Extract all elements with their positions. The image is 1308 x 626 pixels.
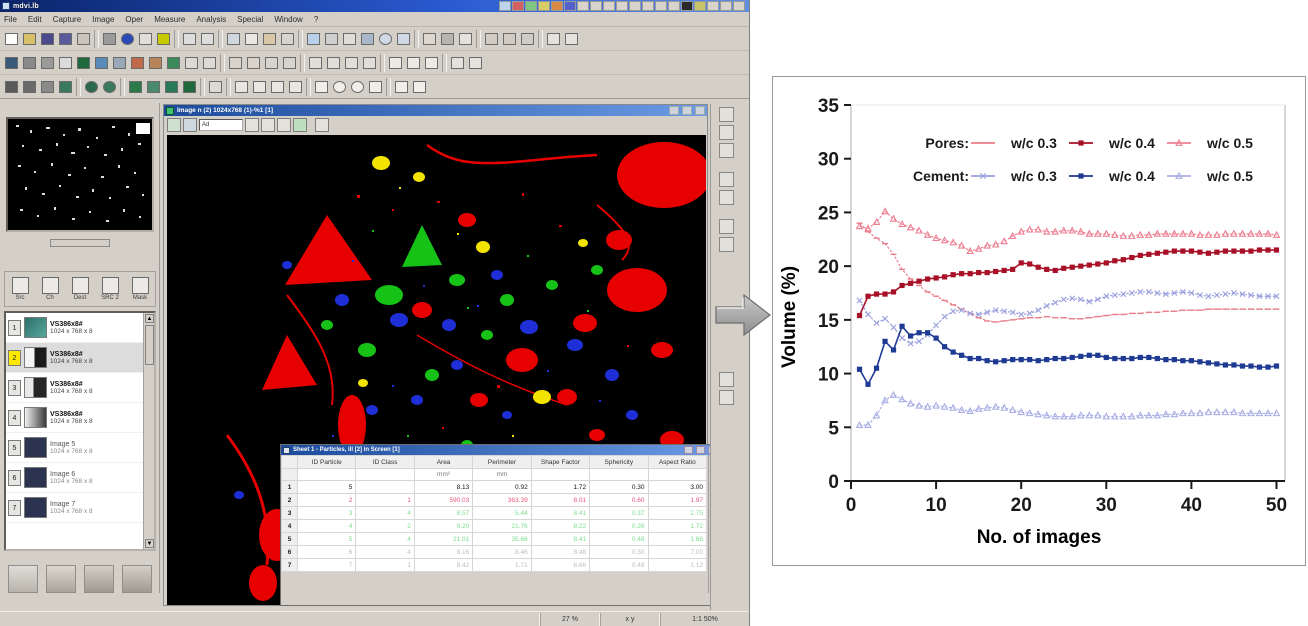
- toolbar-separator-1e: [414, 30, 419, 48]
- row-number: 1: [282, 481, 298, 494]
- status-info: 1:1 50%: [660, 613, 750, 626]
- cell-perimeter[interactable]: 5.44: [473, 507, 531, 520]
- strip-tool-3-icon[interactable]: [719, 143, 734, 158]
- cell-aspect-ratio[interactable]: 1.97: [648, 494, 706, 507]
- gray-image-icon[interactable]: [39, 53, 56, 72]
- title-icon-3[interactable]: [525, 1, 537, 11]
- circle-shape-icon[interactable]: [331, 77, 348, 96]
- cell-area[interactable]: 8.42: [414, 559, 472, 572]
- row-number: 5: [282, 533, 298, 546]
- close-button[interactable]: [733, 1, 745, 11]
- toolbar-row-2[interactable]: [0, 51, 749, 75]
- x-tick-label-40: 40: [1181, 495, 1202, 516]
- toolbar-separator-3c: [200, 78, 205, 96]
- list-item-number: 5: [8, 440, 21, 456]
- legend-cement-wc04-label: w/c 0.4: [1108, 168, 1155, 184]
- rect-shape-icon[interactable]: [313, 77, 330, 96]
- eyedropper-icon[interactable]: [39, 77, 56, 96]
- image-grid-icon[interactable]: [183, 118, 197, 132]
- row-number: 7: [282, 559, 298, 572]
- image-zoom-select[interactable]: Ad: [199, 119, 243, 131]
- title-icon-12[interactable]: [642, 1, 654, 11]
- list-item-name: VS386x8#: [50, 411, 152, 418]
- cell-perimeter[interactable]: 21.76: [473, 520, 531, 533]
- title-icon-16[interactable]: [694, 1, 706, 11]
- list-item-dims: 1024 x 768 x 8: [50, 448, 152, 455]
- title-icon-9[interactable]: [603, 1, 615, 11]
- sheet-window-maximize-button[interactable]: [696, 446, 705, 454]
- list-item[interactable]: 7 Image 7 1024 x 768 x 8: [6, 493, 154, 523]
- filter4-icon[interactable]: [281, 53, 298, 72]
- cell-perimeter[interactable]: 0.92: [473, 481, 531, 494]
- threshold-icon[interactable]: [111, 53, 128, 72]
- duplicate-icon[interactable]: [84, 565, 114, 593]
- cell-sphericity[interactable]: 0.37: [590, 507, 648, 520]
- line-style-icon[interactable]: [393, 77, 410, 96]
- x-tick-label-10: 10: [926, 495, 947, 516]
- menu-item-analysis[interactable]: Analysis: [196, 15, 226, 24]
- arrow-right-icon[interactable]: [563, 29, 580, 48]
- cell-shape-factor[interactable]: 8.01: [531, 494, 589, 507]
- measure-line-icon[interactable]: [341, 29, 358, 48]
- table-row[interactable]: 5 5 4 21.01 35.66 8.41 0.48 1.68: [282, 533, 707, 546]
- erode-icon[interactable]: [147, 53, 164, 72]
- calibrate-icon[interactable]: [305, 29, 322, 48]
- table-header-row: ID Particle ID Class Area Perimeter Shap…: [282, 456, 707, 469]
- list-item-dims: 1024 x 768 x 8: [50, 328, 152, 335]
- cell-id-particle[interactable]: 5: [298, 533, 356, 546]
- macro-icon[interactable]: [519, 29, 536, 48]
- x-tick-label-20: 20: [1011, 495, 1032, 516]
- table-row[interactable]: 4 4 2 9.20 21.76 8.22 0.26 1.72: [282, 520, 707, 533]
- cell-perimeter[interactable]: 363.39: [473, 494, 531, 507]
- list-item-name: Image 6: [50, 471, 152, 478]
- cell-aspect-ratio[interactable]: 3.00: [648, 481, 706, 494]
- image-preview-thumbnail[interactable]: [6, 117, 154, 232]
- unit-area: mm²: [414, 469, 472, 481]
- print-icon[interactable]: [101, 29, 118, 48]
- cell-shape-factor[interactable]: 8.22: [531, 520, 589, 533]
- cell-id-particle[interactable]: 7: [298, 559, 356, 572]
- row-number: 4: [282, 520, 298, 533]
- table-row[interactable]: 6 6 4 8.16 8.46 8.48 0.30 7.00: [282, 546, 707, 559]
- cell-id-class[interactable]: 4: [356, 533, 414, 546]
- unit-perimeter: mm: [473, 469, 531, 481]
- column-header-aspect-ratio[interactable]: Aspect Ratio: [648, 456, 706, 469]
- legend-pores-wc05-label: w/c 0.5: [1206, 135, 1253, 151]
- tool-dest[interactable]: Dest: [68, 277, 92, 301]
- bottom-tool-strip[interactable]: [4, 555, 156, 603]
- cell-sphericity[interactable]: 0.60: [590, 494, 648, 507]
- cell-sphericity[interactable]: 0.26: [590, 520, 648, 533]
- unit-id-particle: [298, 469, 356, 481]
- next-image-icon[interactable]: [467, 53, 484, 72]
- grid-icon[interactable]: [323, 29, 340, 48]
- strip-tool-9-icon[interactable]: [719, 390, 734, 405]
- tool-ch[interactable]: Ch: [38, 277, 62, 301]
- contrast-icon[interactable]: [439, 29, 456, 48]
- tool-src2-label: SRC 2: [98, 295, 122, 301]
- cell-id-particle[interactable]: 5: [298, 481, 356, 494]
- strip-tool-2-icon[interactable]: [719, 125, 734, 140]
- image-overlay-icon[interactable]: [315, 118, 329, 132]
- cell-perimeter[interactable]: 35.66: [473, 533, 531, 546]
- count-icon[interactable]: [325, 53, 342, 72]
- column-header-id-particle[interactable]: ID Particle: [298, 456, 356, 469]
- tool-src2[interactable]: SRC 2: [98, 277, 122, 301]
- new-file-icon[interactable]: [3, 29, 20, 48]
- image-zoom-actual-icon[interactable]: [293, 118, 307, 132]
- cut-icon[interactable]: [225, 29, 242, 48]
- table-row[interactable]: 2 2 1 590.03 363.39 8.01 0.60 1.97: [282, 494, 707, 507]
- title-icon-5[interactable]: [551, 1, 563, 11]
- list-item-text: VS386x8# 1024 x 768 x 8: [50, 381, 152, 395]
- cell-id-particle[interactable]: 3: [298, 507, 356, 520]
- preview-zoom-slider[interactable]: [50, 239, 110, 247]
- left-dock-panel: Src Ch Dest SRC 2 Mask 1: [0, 103, 160, 593]
- cell-aspect-ratio[interactable]: 1.68: [648, 533, 706, 546]
- menu-item-measure[interactable]: Measure: [154, 15, 185, 24]
- eraser-tool-icon[interactable]: [163, 77, 180, 96]
- list-item-thumbnail: [24, 497, 47, 518]
- cell-aspect-ratio[interactable]: 7.00: [648, 546, 706, 559]
- image-window-icon: [166, 107, 174, 115]
- cell-id-particle[interactable]: 2: [298, 494, 356, 507]
- status-message: [0, 613, 540, 626]
- image-window-maximize-button[interactable]: [682, 106, 692, 115]
- filter1-icon[interactable]: [227, 53, 244, 72]
- title-icon-13[interactable]: [655, 1, 667, 11]
- tool-mask[interactable]: Mask: [128, 277, 152, 301]
- y-tick-label-30: 30: [818, 150, 839, 171]
- volume-vs-images-chart-panel: 0510152025303501020304050 No. of images …: [772, 76, 1306, 566]
- mask-icon: [132, 277, 149, 294]
- volume-line-chart: 0510152025303501020304050 No. of images …: [773, 77, 1305, 565]
- list-item-name: Image 5: [50, 441, 152, 448]
- strip-tool-1-icon[interactable]: [719, 107, 734, 122]
- classify-icon[interactable]: [343, 53, 360, 72]
- cell-aspect-ratio[interactable]: 2.75: [648, 507, 706, 520]
- y-tick-label-0: 0: [828, 472, 839, 493]
- table-icon[interactable]: [387, 53, 404, 72]
- cell-area[interactable]: 8.57: [414, 507, 472, 520]
- image-fit-icon[interactable]: [167, 118, 181, 132]
- cell-area[interactable]: 590.03: [414, 494, 472, 507]
- frame-icon[interactable]: [21, 53, 38, 72]
- tool-ch-label: Ch: [38, 295, 62, 301]
- menu-item-edit[interactable]: Edit: [28, 15, 42, 24]
- right-tool-strip[interactable]: [710, 104, 742, 610]
- redo-icon[interactable]: [199, 29, 216, 48]
- strip-tool-7-icon[interactable]: [719, 237, 734, 252]
- magnifier-icon[interactable]: [101, 77, 118, 96]
- unit-aspect-ratio: [648, 469, 706, 481]
- title-icon-15[interactable]: [681, 1, 693, 11]
- list-item-name: VS386x8#: [50, 381, 152, 388]
- report-icon[interactable]: [423, 53, 440, 72]
- open-morph-icon[interactable]: [183, 53, 200, 72]
- trash-icon[interactable]: [8, 565, 38, 593]
- menu-item-image[interactable]: Image: [92, 15, 114, 24]
- label-icon[interactable]: [307, 53, 324, 72]
- save-as-icon[interactable]: [57, 29, 74, 48]
- column-header-perimeter[interactable]: Perimeter: [473, 456, 531, 469]
- cell-id-class[interactable]: 1: [356, 494, 414, 507]
- list-item[interactable]: 6 Image 6 1024 x 768 x 8: [6, 463, 154, 493]
- strip-tool-5-icon[interactable]: [719, 190, 734, 205]
- strip-tool-4-icon[interactable]: [719, 172, 734, 187]
- image-zoom-out-icon[interactable]: [261, 118, 275, 132]
- image-window-minimize-button[interactable]: [669, 106, 679, 115]
- export-icon[interactable]: [75, 29, 92, 48]
- list-item-number: 7: [8, 500, 21, 516]
- copy-icon[interactable]: [243, 29, 260, 48]
- cell-id-particle[interactable]: 6: [298, 546, 356, 559]
- menu-item-special[interactable]: Special: [237, 15, 263, 24]
- scrollbar-thumb[interactable]: [145, 325, 154, 365]
- title-icon-4[interactable]: [538, 1, 550, 11]
- cell-area[interactable]: 21.01: [414, 533, 472, 546]
- image-view-icon[interactable]: [155, 29, 172, 48]
- channel-icon: [42, 277, 59, 294]
- script-run-icon[interactable]: [483, 29, 500, 48]
- lut-icon[interactable]: [457, 29, 474, 48]
- image-zoom-fit-icon[interactable]: [277, 118, 291, 132]
- column-header-shape-factor[interactable]: Shape Factor: [531, 456, 589, 469]
- title-icon-8[interactable]: [590, 1, 602, 11]
- cell-shape-factor[interactable]: 8.41: [531, 533, 589, 546]
- toolbar-separator-3a: [76, 78, 81, 96]
- properties-icon[interactable]: [122, 565, 152, 593]
- list-item-name: VS386x8#: [50, 351, 152, 358]
- image-zoom-in-icon[interactable]: [245, 118, 259, 132]
- cell-perimeter[interactable]: 1.71: [473, 559, 531, 572]
- menu-bar[interactable]: File Edit Capture Image Oper Measure Ana…: [0, 12, 749, 27]
- legend-cement-wc05-label: w/c 0.5: [1206, 168, 1253, 184]
- cell-id-class[interactable]: [356, 481, 414, 494]
- list-item-dims: 1024 x 768 x 8: [50, 418, 152, 425]
- toolbar-separator-2b: [300, 54, 305, 72]
- paste-icon[interactable]: [261, 29, 278, 48]
- cell-id-class[interactable]: 1: [356, 559, 414, 572]
- cell-area[interactable]: 9.20: [414, 520, 472, 533]
- pan-tool-icon[interactable]: [21, 77, 38, 96]
- stats-icon[interactable]: [361, 53, 378, 72]
- draw-arrow-icon[interactable]: [287, 77, 304, 96]
- cell-sphericity[interactable]: 0.48: [590, 559, 648, 572]
- list-item-thumbnail: [24, 407, 47, 428]
- cell-shape-factor[interactable]: 8.66: [531, 559, 589, 572]
- ellipse-shape-icon[interactable]: [349, 77, 366, 96]
- toolbar-separator-3d: [226, 78, 231, 96]
- menu-item-oper[interactable]: Oper: [125, 15, 143, 24]
- column-header-id-class[interactable]: ID Class: [356, 456, 414, 469]
- column-header-area[interactable]: Area: [414, 456, 472, 469]
- cell-aspect-ratio[interactable]: 1.72: [648, 520, 706, 533]
- filter3-icon[interactable]: [263, 53, 280, 72]
- title-icon-14[interactable]: [668, 1, 680, 11]
- check-tool-icon[interactable]: [181, 77, 198, 96]
- filter2-icon[interactable]: [245, 53, 262, 72]
- destination-icon: [72, 277, 89, 294]
- strip-tool-8-icon[interactable]: [719, 372, 734, 387]
- list-item[interactable]: 4 VS386x8# 1024 x 768 x 8: [6, 403, 154, 433]
- title-icon-2[interactable]: [512, 1, 524, 11]
- toolbar-separator-1f: [476, 30, 481, 48]
- cell-perimeter[interactable]: 8.46: [473, 546, 531, 559]
- help-pointer-icon[interactable]: [137, 29, 154, 48]
- roi-rect-icon[interactable]: [207, 77, 224, 96]
- morphology-icon[interactable]: [129, 53, 146, 72]
- row-number: 2: [282, 494, 298, 507]
- list-item-text: Image 5 1024 x 768 x 8: [50, 441, 152, 455]
- text-tool-icon[interactable]: [57, 77, 74, 96]
- delete-icon[interactable]: [279, 29, 296, 48]
- list-item-text: Image 7 1024 x 768 x 8: [50, 501, 152, 515]
- color-classify-icon[interactable]: [75, 53, 92, 72]
- legend-pores-wc03-label: w/c 0.3: [1010, 135, 1057, 151]
- fill-tool-icon[interactable]: [127, 77, 144, 96]
- binary-image-icon[interactable]: [57, 53, 74, 72]
- channel-tool-strip[interactable]: Src Ch Dest SRC 2 Mask: [4, 271, 156, 307]
- cell-area[interactable]: 8.13: [414, 481, 472, 494]
- image-file-list[interactable]: 1 VS386x8# 1024 x 768 x 8 2 VS386x8# 102…: [4, 311, 156, 551]
- script-stop-icon[interactable]: [501, 29, 518, 48]
- segment-icon[interactable]: [93, 53, 110, 72]
- info-icon[interactable]: [119, 29, 136, 48]
- list-item[interactable]: 2 VS386x8# 1024 x 768 x 8: [6, 343, 154, 373]
- image-window-toolbar[interactable]: Ad: [164, 116, 707, 133]
- list-item[interactable]: 5 Image 5 1024 x 768 x 8: [6, 433, 154, 463]
- sheet-window-title: Sheet 1 - Particles, ill [2] in Screen […: [293, 447, 400, 453]
- title-icon-7[interactable]: [577, 1, 589, 11]
- list-item-dims: 1024 x 768 x 8: [50, 508, 152, 515]
- prev-image-icon[interactable]: [449, 53, 466, 72]
- source-icon: [12, 277, 29, 294]
- acquire-icon[interactable]: [3, 53, 20, 72]
- x-tick-label-50: 50: [1266, 495, 1287, 516]
- scroll-up-arrow-icon[interactable]: ▲: [145, 314, 154, 323]
- y-tick-label-35: 35: [818, 96, 840, 117]
- image-analysis-application-window: mdvi.lb File Edit Capture Ima: [0, 0, 750, 626]
- list-item-dims: 1024 x 768 x 8: [50, 388, 152, 395]
- load-image-icon[interactable]: [46, 565, 76, 593]
- particle-data-sheet-window[interactable]: Sheet 1 - Particles, ill [2] in Screen […: [280, 444, 720, 606]
- legend-group-pores-label: Pores:: [925, 135, 969, 151]
- zoom-out-icon[interactable]: [395, 29, 412, 48]
- title-icon-1[interactable]: [499, 1, 511, 11]
- save-icon[interactable]: [39, 29, 56, 48]
- brush-tool-icon[interactable]: [145, 77, 162, 96]
- toolbar-separator-2d: [442, 54, 447, 72]
- toolbar-row-3[interactable]: [0, 75, 749, 99]
- cell-sphericity[interactable]: 0.30: [590, 546, 648, 559]
- toolbar-row-1[interactable]: [0, 27, 749, 51]
- zoom-in-icon[interactable]: [377, 29, 394, 48]
- unit-sphericity: [590, 469, 648, 481]
- chart-icon[interactable]: [405, 53, 422, 72]
- table-row[interactable]: 7 7 1 8.42 1.71 8.66 0.48 1.12: [282, 559, 707, 572]
- title-icon-11[interactable]: [629, 1, 641, 11]
- table-row[interactable]: 1 5 8.13 0.92 1.72 0.30 3.00: [282, 481, 707, 494]
- histogram-icon[interactable]: [359, 29, 376, 48]
- scroll-down-arrow-icon[interactable]: ▼: [145, 539, 154, 548]
- cell-id-particle[interactable]: 4: [298, 520, 356, 533]
- image-window-close-button[interactable]: [695, 106, 705, 115]
- column-header-sphericity[interactable]: Sphericity: [590, 456, 648, 469]
- cell-area[interactable]: 8.16: [414, 546, 472, 559]
- particle-data-table[interactable]: ID Particle ID Class Area Perimeter Shap…: [281, 455, 707, 572]
- menu-item-capture[interactable]: Capture: [53, 15, 81, 24]
- cell-shape-factor[interactable]: 8.48: [531, 546, 589, 559]
- maximize-button[interactable]: [720, 1, 732, 11]
- draw-line-icon[interactable]: [233, 77, 250, 96]
- toolbar-separator-2c: [380, 54, 385, 72]
- legend-pores-wc04-label: w/c 0.4: [1108, 135, 1155, 151]
- cell-id-class[interactable]: 4: [356, 507, 414, 520]
- list-item-thumbnail: [24, 347, 47, 368]
- list-item-number: 3: [8, 380, 21, 396]
- cell-shape-factor[interactable]: 8.41: [531, 507, 589, 520]
- list-item-name: VS386x8#: [50, 321, 152, 328]
- draw-free-icon[interactable]: [269, 77, 286, 96]
- close-morph-icon[interactable]: [201, 53, 218, 72]
- cell-shape-factor[interactable]: 1.72: [531, 481, 589, 494]
- legend-cement-wc03-label: w/c 0.3: [1010, 168, 1057, 184]
- tool-src-label: Src: [8, 295, 32, 301]
- strip-tool-6-icon[interactable]: [719, 219, 734, 234]
- polygon-shape-icon[interactable]: [367, 77, 384, 96]
- open-file-icon[interactable]: [21, 29, 38, 48]
- thumbnail-noise: [8, 119, 154, 232]
- file-list-scrollbar[interactable]: ▲ ▼: [143, 313, 154, 549]
- y-tick-label-25: 25: [818, 203, 840, 224]
- menu-item-window[interactable]: Window: [274, 15, 302, 24]
- tool-src[interactable]: Src: [8, 277, 32, 301]
- dilate-icon[interactable]: [165, 53, 182, 72]
- palette-icon[interactable]: [421, 29, 438, 48]
- table-row[interactable]: 3 3 4 8.57 5.44 8.41 0.37 2.75: [282, 507, 707, 520]
- toolbar-separator-3f: [386, 78, 391, 96]
- menu-item-file[interactable]: File: [4, 15, 17, 24]
- cell-id-class[interactable]: 2: [356, 520, 414, 533]
- list-item[interactable]: 3 VS386x8# 1024 x 768 x 8: [6, 373, 154, 403]
- cell-id-class[interactable]: 4: [356, 546, 414, 559]
- list-item[interactable]: 1 VS386x8# 1024 x 768 x 8: [6, 313, 154, 343]
- title-icon-6[interactable]: [564, 1, 576, 11]
- toolbar-separator-1c: [218, 30, 223, 48]
- cell-sphericity[interactable]: 0.30: [590, 481, 648, 494]
- sheet-window-minimize-button[interactable]: [684, 446, 693, 454]
- x-tick-label-0: 0: [846, 495, 857, 516]
- arrow-left-icon[interactable]: [545, 29, 562, 48]
- title-icon-10[interactable]: [616, 1, 628, 11]
- image-window-title-bar: Image n (2) 1024x768 (1)-%1 [1]: [164, 105, 707, 116]
- draw-poly-icon[interactable]: [251, 77, 268, 96]
- app-title: mdvi.lb: [13, 3, 39, 10]
- cell-aspect-ratio[interactable]: 1.12: [648, 559, 706, 572]
- y-tick-label-20: 20: [818, 257, 839, 278]
- undo-icon[interactable]: [181, 29, 198, 48]
- color-pick-icon[interactable]: [411, 77, 428, 96]
- menu-item-help[interactable]: ?: [314, 15, 318, 24]
- title-bar-icon-strip[interactable]: [499, 1, 747, 11]
- minimize-button[interactable]: [707, 1, 719, 11]
- blob-select-icon[interactable]: [83, 77, 100, 96]
- pointer-tool-icon[interactable]: [3, 77, 20, 96]
- list-item-text: VS386x8# 1024 x 768 x 8: [50, 411, 152, 425]
- cell-sphericity[interactable]: 0.48: [590, 533, 648, 546]
